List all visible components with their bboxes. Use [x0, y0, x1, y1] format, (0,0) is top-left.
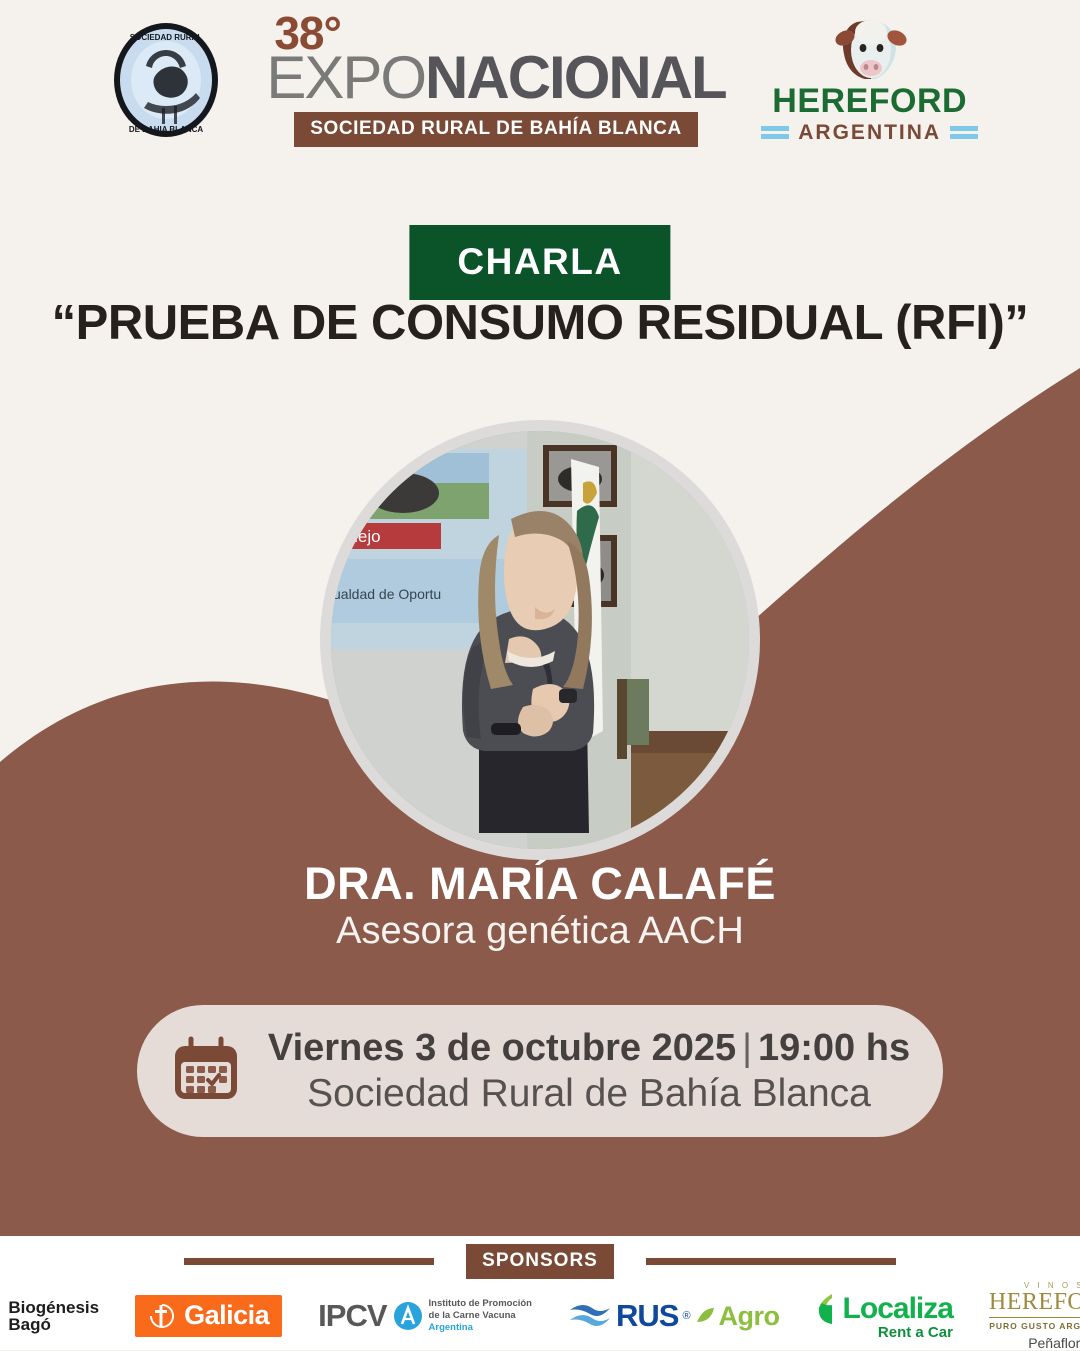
- ipcva-desc-line1: Instituto de Promoción: [429, 1298, 532, 1310]
- sponsor-logo-ipcva: IPCV Instituto de Promoción de la Carne …: [318, 1298, 532, 1334]
- speaker-photo-illustration: anejo ualdad de Oportu: [331, 431, 749, 849]
- charla-badge: CHARLA: [409, 225, 670, 300]
- expo-wordmark: EXPONACIONAL: [266, 49, 725, 106]
- ipcva-circle-a-icon: [393, 1301, 423, 1331]
- speaker-name: DRA. MARÍA CALAFÉ: [0, 858, 1080, 910]
- hereford-bull-head-icon: [827, 16, 913, 82]
- sponsor-logo-galicia: Galicia: [135, 1295, 282, 1337]
- hereford-country-label: ARGENTINA: [798, 121, 941, 145]
- hereford-wordmark: HEREFORD: [772, 84, 967, 118]
- speaker-portrait: anejo ualdad de Oportu: [331, 431, 749, 849]
- biogenesis-line1: Biogénesis: [8, 1299, 99, 1316]
- agro-wordmark: Agro: [719, 1301, 780, 1332]
- speaker-portrait-frame: anejo ualdad de Oportu: [320, 420, 760, 860]
- header-logos: SOCIEDAD RURAL DE BAHIA BLANCA 38° EXPON…: [0, 0, 1080, 160]
- hereford-argentina-logo: HEREFORD ARGENTINA: [770, 16, 970, 145]
- rus-wordmark: RUS: [616, 1298, 678, 1334]
- sponsor-logo-localiza: Localiza Rent a Car: [816, 1292, 953, 1341]
- event-venue: Sociedad Rural de Bahía Blanca: [307, 1072, 871, 1116]
- ipcva-description: Instituto de Promoción de la Carne Vacun…: [429, 1298, 532, 1334]
- hereford-wine-tagline: PURO GUSTO ARGENTINO: [989, 1321, 1080, 1331]
- sponsor-logo-rus-agro: RUS ® Agro: [568, 1298, 780, 1334]
- expo-subtitle-bar: SOCIEDAD RURAL DE BAHÍA BLANCA: [294, 112, 698, 147]
- biogenesis-wordmark: Biogénesis Bagó: [8, 1299, 99, 1334]
- speaker-role: Asesora genética AACH: [0, 910, 1080, 953]
- event-details-pill: Viernes 3 de octubre 2025|19:00 hs Socie…: [137, 1005, 943, 1137]
- agro-leaf-icon: [695, 1306, 715, 1326]
- event-separator: |: [742, 1027, 752, 1069]
- penaflor-brand: Peñaflor: [1028, 1335, 1080, 1351]
- hereford-wine-wordmark: HEREFORD: [989, 1290, 1080, 1317]
- sponsor-logos-row: Biogénesis Bagó Galicia IPCV Instituto d…: [0, 1284, 1080, 1348]
- event-text-block: Viernes 3 de octubre 2025|19:00 hs Socie…: [268, 1027, 910, 1116]
- event-time: 19:00 hs: [758, 1027, 910, 1069]
- expo-nacional-logo: 38° EXPONACIONAL SOCIEDAD RURAL DE BAHÍA…: [266, 13, 725, 146]
- ipcva-desc-line2: de la Carne Vacuna: [429, 1310, 532, 1322]
- hereford-argentina-row: ARGENTINA: [761, 121, 978, 145]
- argentina-flag-bars-right-icon: [950, 126, 978, 139]
- sponsors-heading: SPONSORS: [0, 1244, 1080, 1278]
- sponsors-rule-right: [646, 1258, 896, 1265]
- ipcva-wordmark: IPCV: [318, 1298, 386, 1334]
- rus-waves-icon: [568, 1300, 612, 1332]
- localiza-wordmark: Localiza: [843, 1292, 953, 1326]
- sponsor-logo-hereford-penaflor: V I N O S HEREFORD PURO GUSTO ARGENTINO …: [989, 1281, 1080, 1350]
- galicia-cross-icon: [148, 1301, 176, 1331]
- biogenesis-line2: Bagó: [8, 1316, 99, 1333]
- sociedad-rural-seal-icon: SOCIEDAD RURAL DE BAHIA BLANCA: [110, 20, 222, 140]
- sponsors-label: SPONSORS: [466, 1244, 614, 1279]
- svg-text:ualdad de Oportu: ualdad de Oportu: [333, 586, 441, 602]
- event-date-time: Viernes 3 de octubre 2025|19:00 hs: [268, 1027, 910, 1070]
- talk-title: “PRUEBA DE CONSUMO RESIDUAL (RFI)”: [0, 295, 1080, 351]
- argentina-flag-bars-left-icon: [761, 126, 789, 139]
- sponsor-logo-biogenesis-bago: Biogénesis Bagó: [0, 1296, 99, 1336]
- localiza-top-row: Localiza: [816, 1292, 953, 1326]
- expo-word-light: EXPO: [266, 44, 425, 111]
- event-date: Viernes 3 de octubre 2025: [268, 1027, 736, 1069]
- localiza-mark-icon: [816, 1293, 838, 1325]
- galicia-wordmark: Galicia: [184, 1300, 269, 1331]
- svg-text:DE BAHIA BLANCA: DE BAHIA BLANCA: [129, 125, 204, 134]
- svg-text:SOCIEDAD RURAL: SOCIEDAD RURAL: [130, 33, 203, 42]
- localiza-tagline: Rent a Car: [878, 1324, 953, 1341]
- calendar-icon: [170, 1035, 242, 1107]
- ipcva-desc-line3: Argentina: [429, 1322, 532, 1334]
- rus-registered-mark: ®: [682, 1310, 690, 1322]
- sponsors-footer: SPONSORS Biogénesis Bagó Galicia: [0, 1236, 1080, 1350]
- sponsors-rule-left: [184, 1258, 434, 1265]
- expo-word-heavy: NACIONAL: [425, 44, 726, 111]
